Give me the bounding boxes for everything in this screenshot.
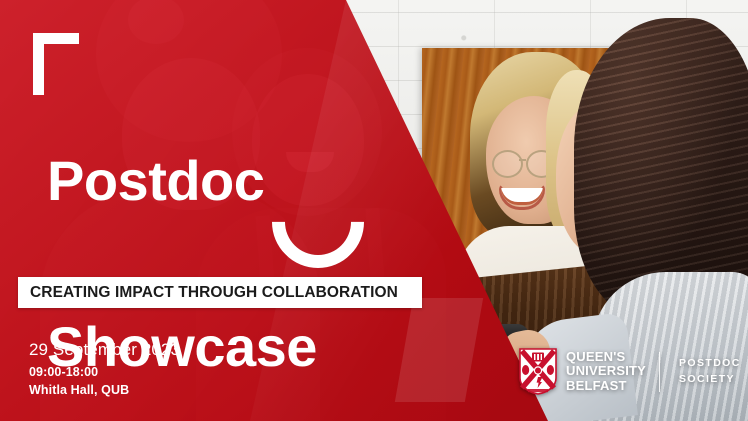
eyeglasses-left-lens	[492, 150, 523, 178]
event-poster: Postdoc Showcase 2023 CREATING IMPACT TH…	[0, 0, 748, 421]
tagline-banner: CREATING IMPACT THROUGH COLLABORATION	[18, 277, 422, 308]
tagline-text: CREATING IMPACT THROUGH COLLABORATION	[18, 284, 398, 302]
society-name-line-1: POSTDOC	[679, 356, 741, 371]
event-venue: Whitla Hall, QUB	[29, 381, 180, 399]
society-name-line-2: SOCIETY	[679, 372, 741, 387]
university-name-line-3: BELFAST	[566, 379, 646, 394]
logo-lockup: QUEEN'S UNIVERSITY BELFAST POSTDOC SOCIE…	[519, 348, 741, 395]
title-line-1: Postdoc	[47, 153, 317, 208]
university-name: QUEEN'S UNIVERSITY BELFAST	[566, 350, 646, 394]
society-name: POSTDOC SOCIETY	[679, 356, 741, 386]
eyeglasses-bridge	[519, 159, 526, 161]
event-date: 29 September 2023	[29, 340, 180, 360]
event-time: 09:00-18:00	[29, 363, 180, 381]
event-details: 29 September 2023 09:00-18:00 Whitla Hal…	[29, 340, 180, 399]
logo-divider	[659, 352, 660, 392]
university-name-line-1: QUEEN'S	[566, 350, 646, 365]
queens-university-crest-icon	[519, 348, 557, 395]
university-name-line-2: UNIVERSITY	[566, 364, 646, 379]
